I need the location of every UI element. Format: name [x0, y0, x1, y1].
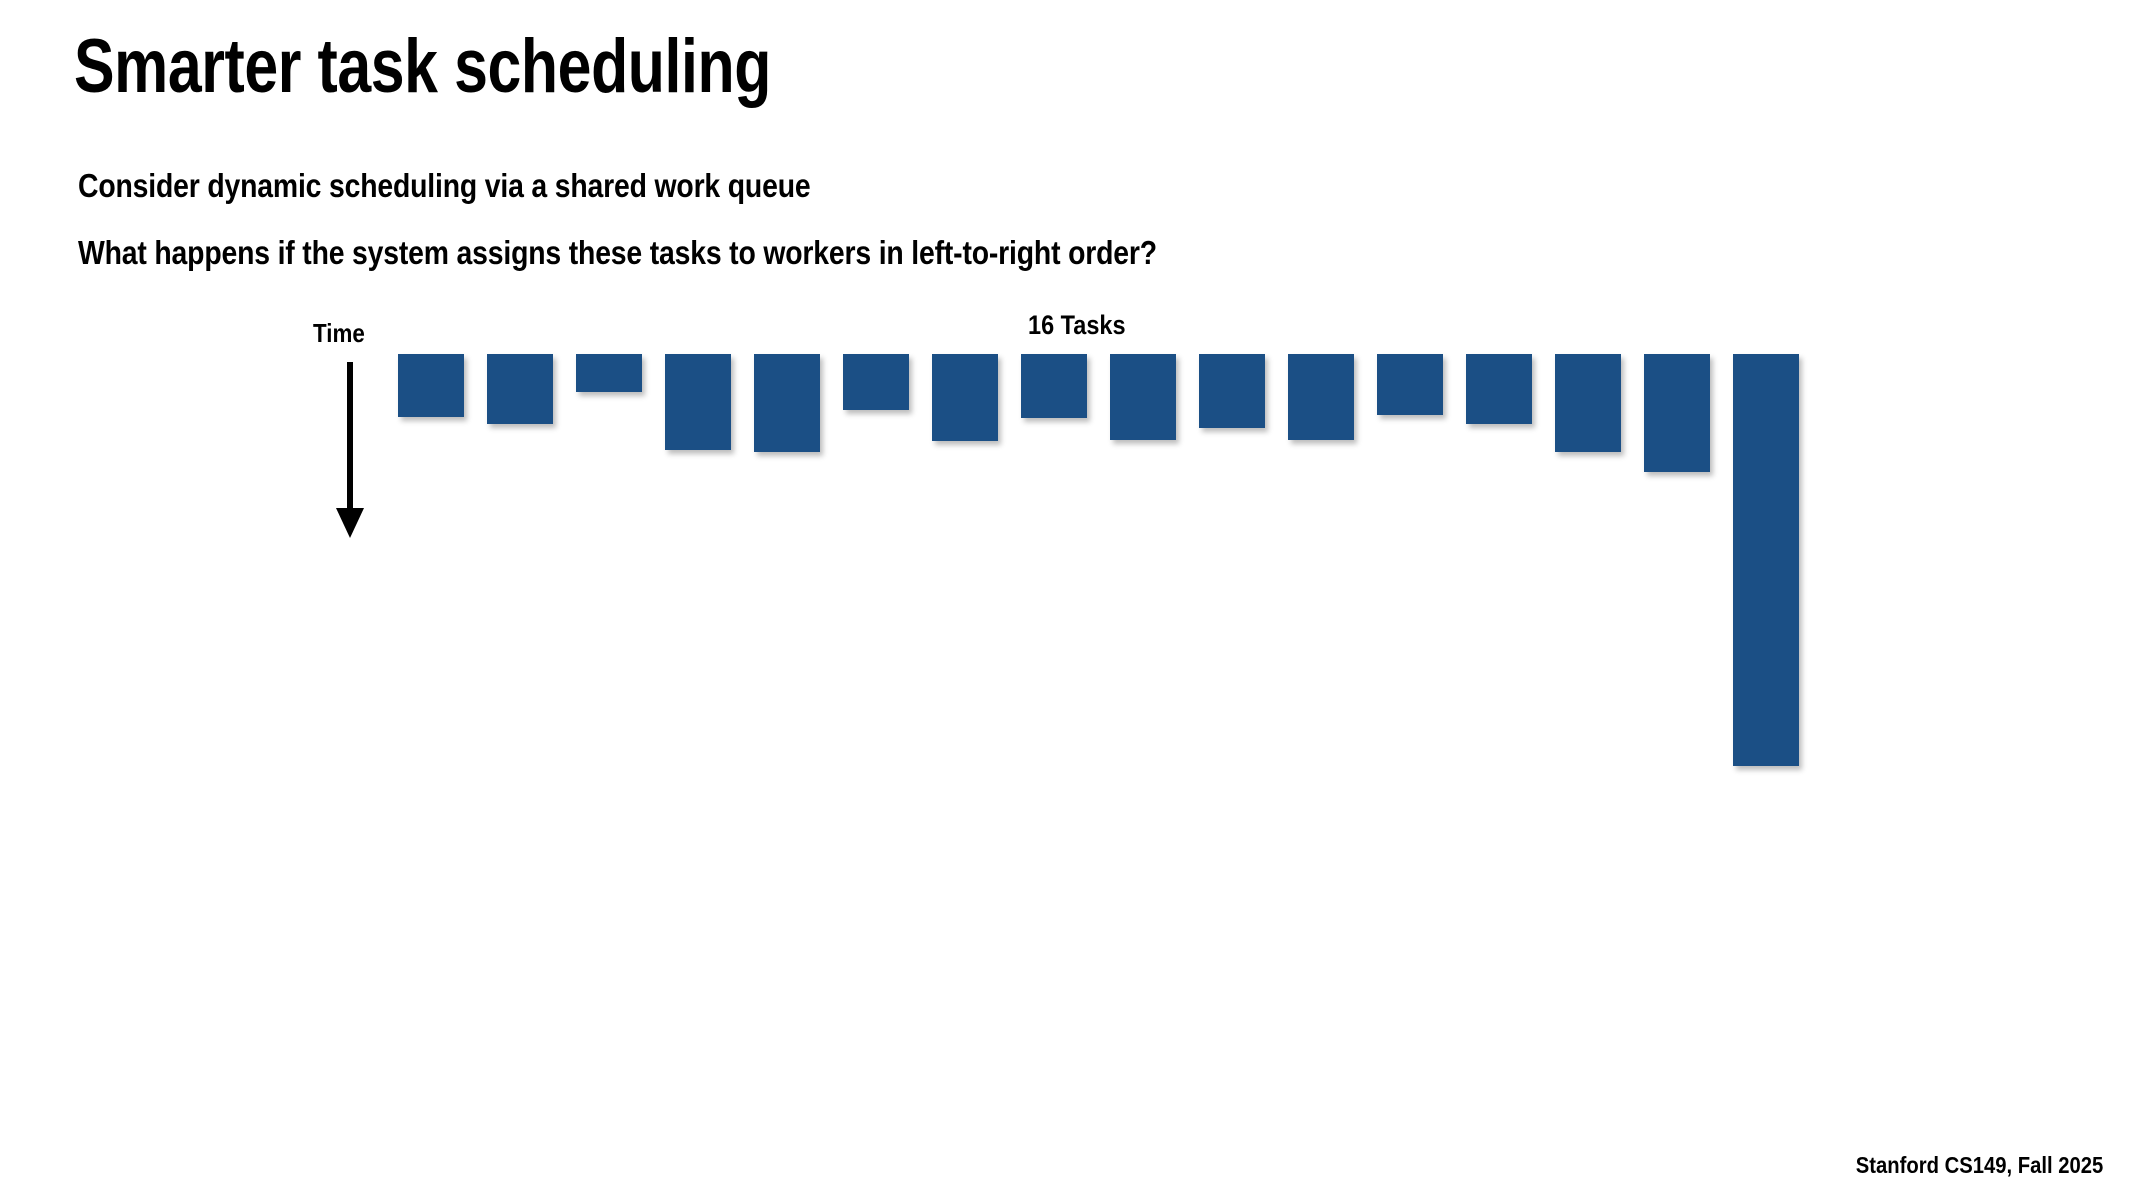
task-bar [1644, 354, 1710, 472]
task-bar [1377, 354, 1443, 415]
task-bar [1021, 354, 1087, 418]
footer-credit: Stanford CS149, Fall 2025 [1856, 1152, 2103, 1179]
task-bar [1555, 354, 1621, 452]
task-bar [576, 354, 642, 392]
task-bars-group [0, 0, 2133, 1200]
task-bar [1466, 354, 1532, 424]
task-bar [932, 354, 998, 441]
task-bar [665, 354, 731, 450]
task-bar [487, 354, 553, 424]
task-schedule-diagram: Time 16 Tasks [0, 0, 2133, 1200]
task-bar [398, 354, 464, 417]
slide-canvas: Smarter task scheduling Consider dynamic… [0, 0, 2133, 1200]
task-bar [1199, 354, 1265, 428]
task-bar [1110, 354, 1176, 440]
task-bar [843, 354, 909, 410]
task-bar [1288, 354, 1354, 440]
task-bar [1733, 354, 1799, 766]
task-bar [754, 354, 820, 452]
